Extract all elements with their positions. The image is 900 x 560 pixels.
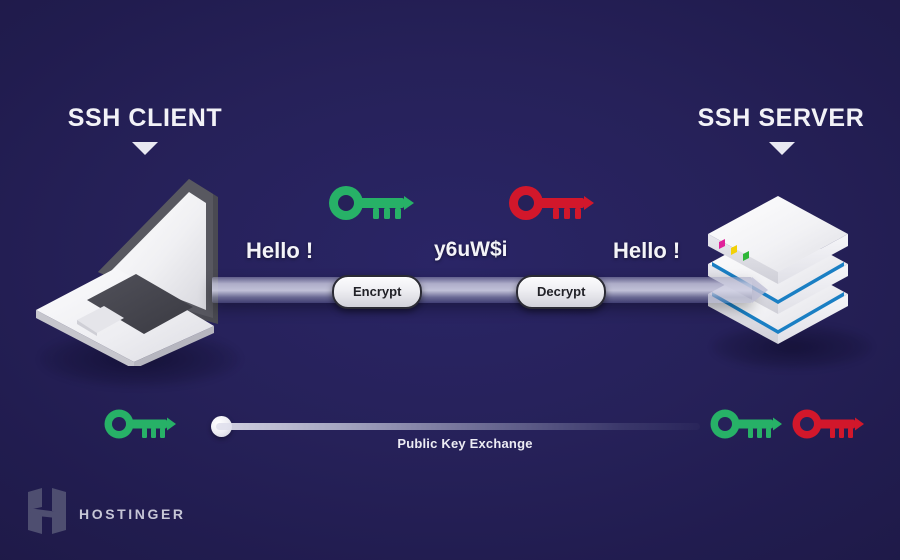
ciphertext-label: y6uW$i xyxy=(434,238,508,262)
caret-down-icon xyxy=(132,142,158,155)
plaintext-outgoing-label: Hello ! xyxy=(246,238,313,264)
public-key-exchange-label: Public Key Exchange xyxy=(340,436,590,451)
client-heading: SSH CLIENT xyxy=(40,104,250,133)
client-public-key-icon xyxy=(102,406,178,442)
plaintext-incoming-label: Hello ! xyxy=(613,238,680,264)
brand-logo: HOSTINGER xyxy=(28,488,186,539)
server-heading: SSH SERVER xyxy=(676,104,886,133)
decrypt-button[interactable]: Decrypt xyxy=(516,275,606,309)
private-key-icon-red xyxy=(506,182,596,224)
server-private-key-icon xyxy=(790,406,866,442)
public-key-exchange-line xyxy=(216,423,700,430)
encrypted-channel-bar xyxy=(212,277,752,303)
server-public-key-icon xyxy=(708,406,784,442)
hostinger-h-logo-icon xyxy=(28,488,66,539)
brand-name: HOSTINGER xyxy=(79,506,186,522)
caret-down-icon xyxy=(769,142,795,155)
public-key-icon-green xyxy=(326,182,416,224)
ssh-diagram-canvas: SSH CLIENT SSH SERVER xyxy=(0,0,900,560)
server-stack-icon xyxy=(698,196,858,351)
laptop-icon xyxy=(26,176,236,371)
encrypt-button[interactable]: Encrypt xyxy=(332,275,422,309)
